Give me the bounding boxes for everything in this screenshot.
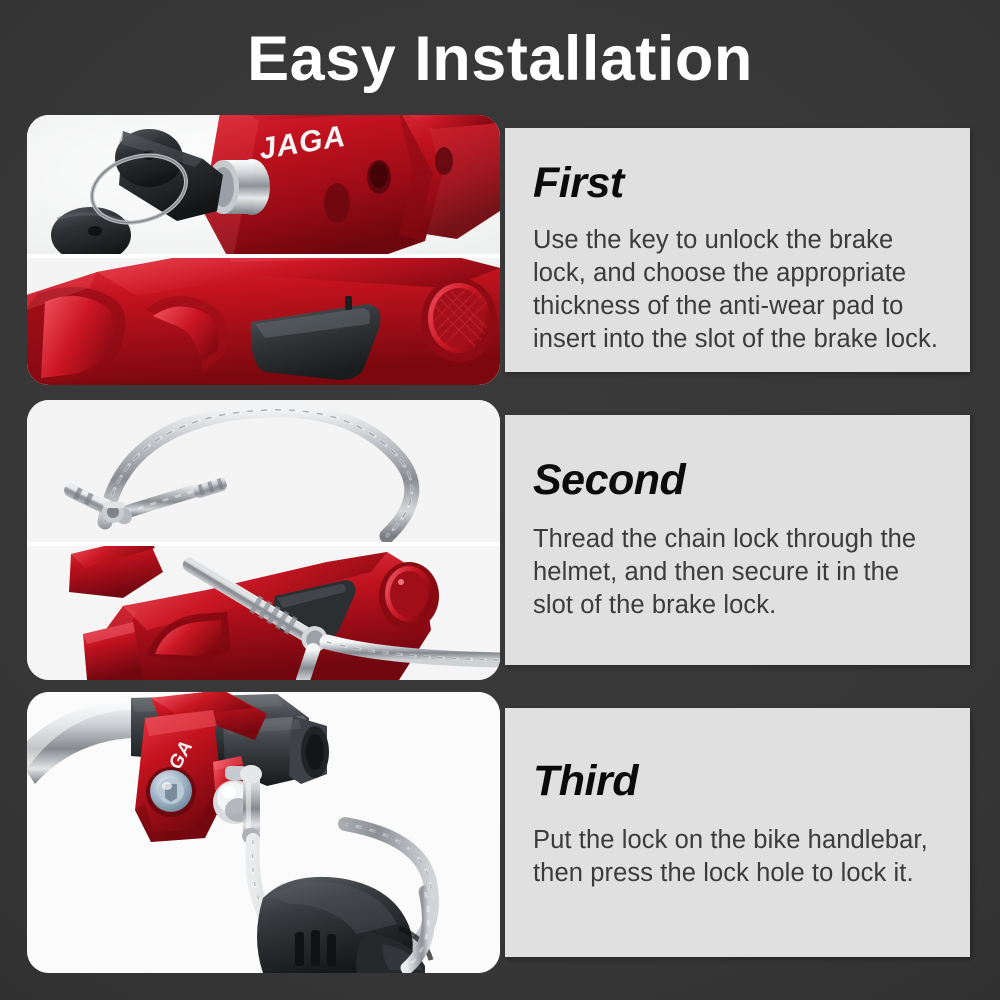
step-first-heading: First xyxy=(533,162,942,205)
step-third-image-panel: JAGA xyxy=(27,692,500,973)
page-title-bar: Easy Installation xyxy=(0,18,1000,100)
step-second-text-card: Second Thread the chain lock through the… xyxy=(505,415,970,665)
image-red-brake-lock-with-anti-wear-pad xyxy=(27,258,500,385)
image-split-divider xyxy=(27,254,500,258)
image-cable-secured-into-brake-lock-slot xyxy=(27,546,500,680)
step-row-third: JAGA xyxy=(0,692,1000,973)
image-lock-mounted-on-bike-handlebar-with-helmet: JAGA xyxy=(27,692,500,973)
step-first-text-card: First Use the key to unlock the brake lo… xyxy=(505,128,970,372)
image-split-divider xyxy=(27,542,500,546)
step-second-heading: Second xyxy=(533,459,942,502)
step-row-second: Second Thread the chain lock through the… xyxy=(0,400,1000,680)
step-row-first: JAGA xyxy=(0,115,1000,385)
image-key-inserted-in-red-brake-lock: JAGA xyxy=(27,115,500,254)
step-first-body: Use the key to unlock the brake lock, an… xyxy=(533,224,942,357)
step-third-text-card: Third Put the lock on the bike handlebar… xyxy=(505,708,970,957)
step-third-body: Put the lock on the bike handlebar, then… xyxy=(533,824,942,890)
step-second-image-panel xyxy=(27,400,500,680)
step-third-heading: Third xyxy=(533,760,942,803)
lock-hole xyxy=(146,767,196,817)
page-title: Easy Installation xyxy=(247,28,753,91)
image-braided-steel-cable-chain-lock xyxy=(27,400,500,542)
step-second-body: Thread the chain lock through the helmet… xyxy=(533,523,942,622)
step-first-image-panel: JAGA xyxy=(27,115,500,385)
